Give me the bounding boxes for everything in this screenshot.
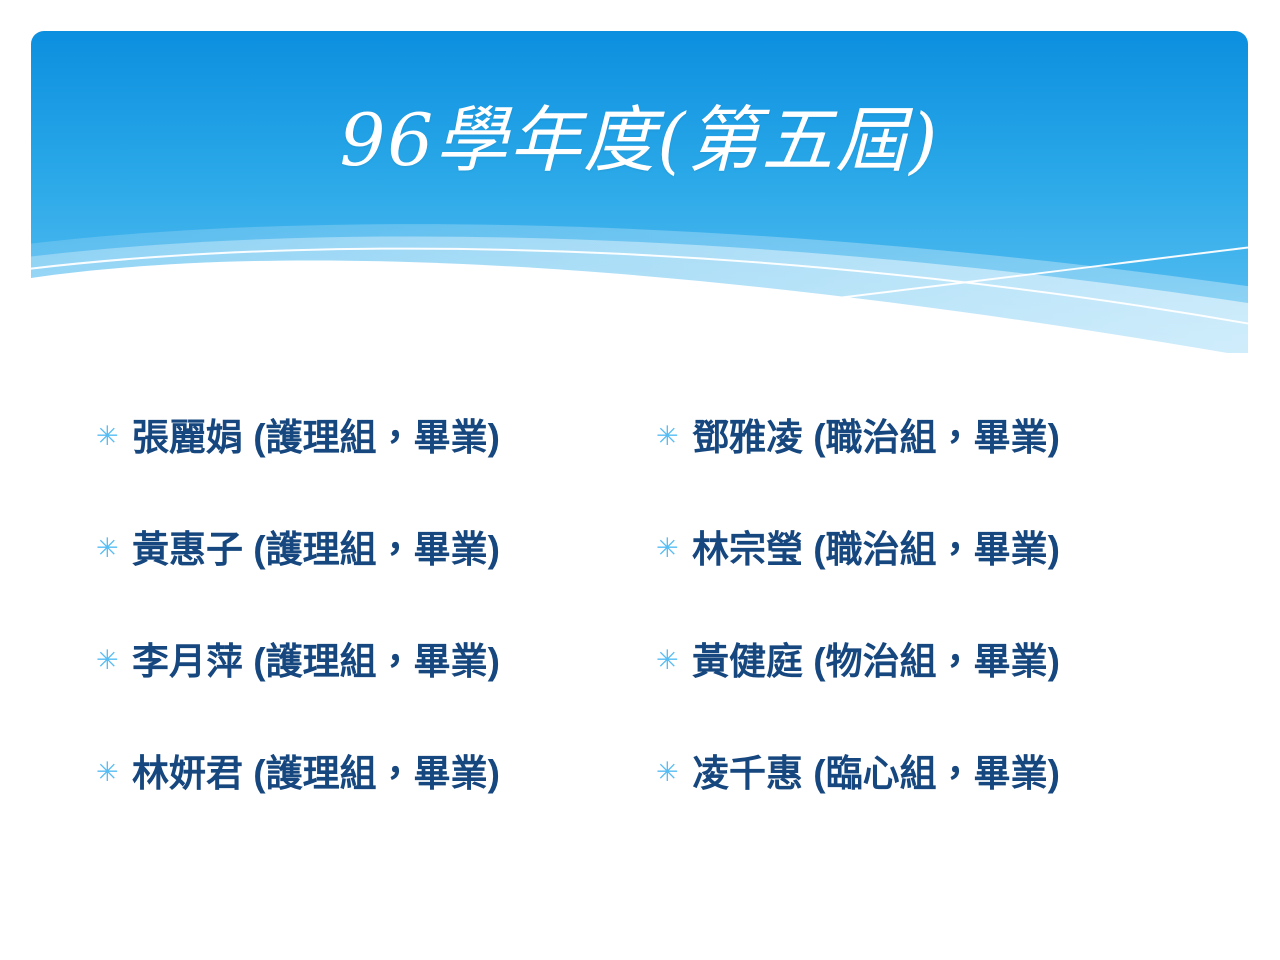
graduate-entry-right-1: 鄧雅凌 (職治組，畢業)	[692, 418, 1060, 459]
list-item: ✳ 李月萍 (護理組，畢業)	[96, 606, 656, 718]
list-item: ✳ 張麗娟 (護理組，畢業)	[96, 382, 656, 494]
asterisk-bullet-icon: ✳	[656, 535, 678, 562]
asterisk-bullet-icon: ✳	[656, 423, 678, 450]
asterisk-bullet-icon: ✳	[656, 647, 678, 674]
graduate-entry-left-1: 張麗娟 (護理組，畢業)	[132, 418, 500, 459]
list-item: ✳ 鄧雅凌 (職治組，畢業)	[656, 382, 1196, 494]
graduate-entry-left-4: 林妍君 (護理組，畢業)	[132, 754, 500, 795]
list-item: ✳ 林妍君 (護理組，畢業)	[96, 718, 656, 830]
asterisk-bullet-icon: ✳	[96, 647, 118, 674]
asterisk-bullet-icon: ✳	[656, 759, 678, 786]
list-item: ✳ 凌千惠 (臨心組，畢業)	[656, 718, 1196, 830]
graduate-entry-right-2: 林宗瑩 (職治組，畢業)	[692, 530, 1060, 571]
graduate-entry-left-2: 黃惠子 (護理組，畢業)	[132, 530, 500, 571]
graduate-list: ✳ 張麗娟 (護理組，畢業) ✳ 鄧雅凌 (職治組，畢業) ✳ 黃惠子 (護理組…	[96, 382, 1196, 812]
graduate-entry-right-4: 凌千惠 (臨心組，畢業)	[692, 754, 1060, 795]
header-banner: 96學年度(第五屆)	[31, 31, 1248, 353]
asterisk-bullet-icon: ✳	[96, 759, 118, 786]
list-item: ✳ 黃健庭 (物治組，畢業)	[656, 606, 1196, 718]
graduate-entry-right-3: 黃健庭 (物治組，畢業)	[692, 642, 1060, 683]
list-item: ✳ 林宗瑩 (職治組，畢業)	[656, 494, 1196, 606]
asterisk-bullet-icon: ✳	[96, 535, 118, 562]
list-item: ✳ 黃惠子 (護理組，畢業)	[96, 494, 656, 606]
asterisk-bullet-icon: ✳	[96, 423, 118, 450]
page-title: 96學年度(第五屆)	[31, 31, 1248, 236]
graduate-entry-left-3: 李月萍 (護理組，畢業)	[132, 642, 500, 683]
presentation-slide: 96學年度(第五屆) ✳ 張麗娟 (護理組，畢業) ✳ 鄧雅凌 (職治組，畢業)…	[0, 0, 1280, 960]
